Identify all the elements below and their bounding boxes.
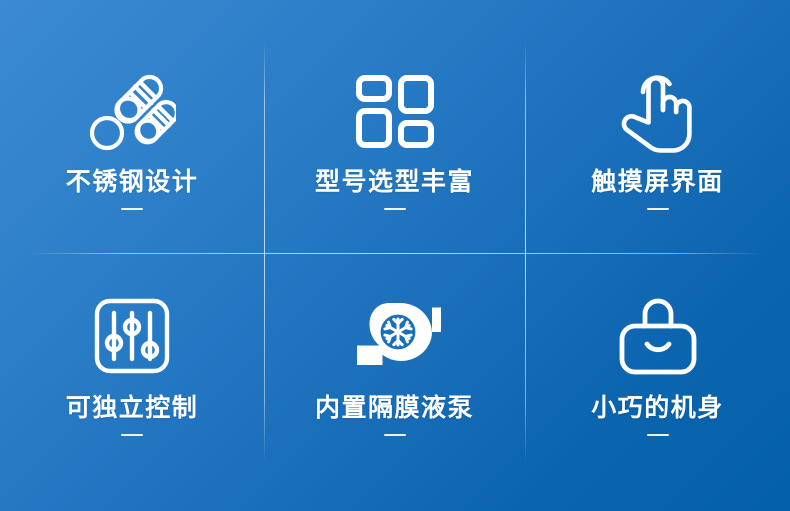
- label-underline-dash: [121, 208, 143, 210]
- stacked-pipes-icon: [84, 72, 180, 152]
- label-underline-dash: [647, 208, 669, 210]
- label-underline-dash: [121, 434, 143, 436]
- feature-cell-touchscreen-interface[interactable]: 触摸屏界面: [525, 0, 790, 253]
- label-underline-dash: [647, 434, 669, 436]
- feature-label: 不锈钢设计: [66, 170, 199, 195]
- feature-cell-compact-body[interactable]: 小巧的机身: [525, 253, 790, 511]
- feature-grid-banner: 不锈钢设计 型号选型丰富: [0, 0, 790, 511]
- sliders-panel-icon: [84, 296, 180, 376]
- feature-label: 小巧的机身: [591, 396, 724, 421]
- feature-cell-stainless-steel-design[interactable]: 不锈钢设计: [0, 0, 264, 253]
- feature-cell-rich-model-selection[interactable]: 型号选型丰富: [264, 0, 525, 253]
- touch-hand-icon: [610, 72, 706, 152]
- label-underline-dash: [384, 208, 406, 210]
- feature-cell-built-in-diaphragm-pump[interactable]: 内置隔膜液泵: [264, 253, 525, 511]
- snowflake-pump-icon: [347, 296, 443, 376]
- feature-label: 触摸屏界面: [591, 170, 724, 195]
- feature-grid: 不锈钢设计 型号选型丰富: [0, 0, 790, 511]
- feature-label: 可独立控制: [66, 396, 199, 421]
- feature-label: 型号选型丰富: [315, 170, 474, 195]
- feature-cell-independent-control[interactable]: 可独立控制: [0, 253, 264, 511]
- handbag-icon: [610, 296, 706, 376]
- feature-label: 内置隔膜液泵: [315, 396, 474, 421]
- label-underline-dash: [384, 434, 406, 436]
- grid-layout-icon: [347, 72, 443, 152]
